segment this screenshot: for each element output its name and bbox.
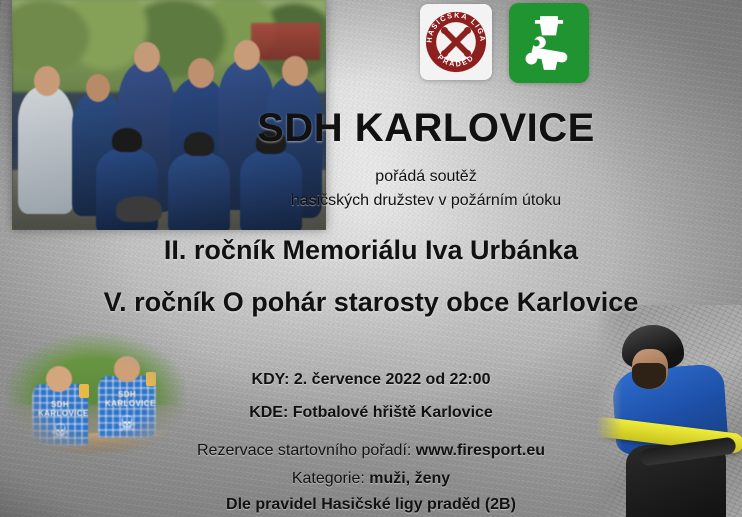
liga-logo-icon: HASIČSKÁ LIGA PRADĚD	[424, 10, 488, 74]
person-head	[134, 42, 160, 72]
hasicska-liga-praded-logo[interactable]: HASIČSKÁ LIGA PRADĚD	[420, 4, 492, 80]
person-head	[188, 58, 214, 88]
category-label: Kategorie:	[292, 470, 365, 487]
detail-rules: Dle pravidel Hasičské ligy praděd (2B)	[0, 496, 742, 514]
bench-photo: SDHKARLOVICE ☠ SDHKARLOVICE ☠	[6, 332, 186, 458]
person-head	[282, 56, 308, 86]
firesport-emblem-icon	[517, 11, 581, 75]
detail-reservation: Rezervace startovního pořadí: www.firesp…	[0, 442, 742, 460]
person-head	[234, 40, 260, 70]
detail-category: Kategorie: muži, ženy	[0, 470, 742, 488]
person-figure	[240, 150, 302, 230]
person-head	[86, 74, 110, 102]
person-head	[34, 66, 60, 96]
subtitle-line-2: hasičských družstev v požárním útoku	[0, 192, 742, 210]
reservation-label: Rezervace startovního pořadí:	[197, 442, 411, 459]
page-title: SDH KARLOVICE	[0, 106, 742, 151]
detail-where: KDE: Fotbalové hřiště Karlovice	[0, 404, 742, 422]
subtitle-line-1: pořádá soutěž	[0, 168, 742, 186]
category-value: muži, ženy	[369, 470, 450, 487]
reservation-url[interactable]: www.firesport.eu	[416, 442, 545, 459]
headline-mayor-cup: V. ročník O pohár starosty obce Karlovic…	[0, 287, 742, 318]
poster-canvas: SDHKARLOVICE ☠ SDHKARLOVICE ☠	[0, 0, 742, 517]
firefighting-emblem-logo[interactable]	[509, 3, 589, 83]
headline-memorial: II. ročník Memoriálu Iva Urbánka	[0, 235, 742, 266]
detail-when: KDY: 2. července 2022 od 22:00	[0, 371, 742, 389]
photo-red-wall	[251, 23, 320, 60]
person-figure	[168, 152, 230, 230]
